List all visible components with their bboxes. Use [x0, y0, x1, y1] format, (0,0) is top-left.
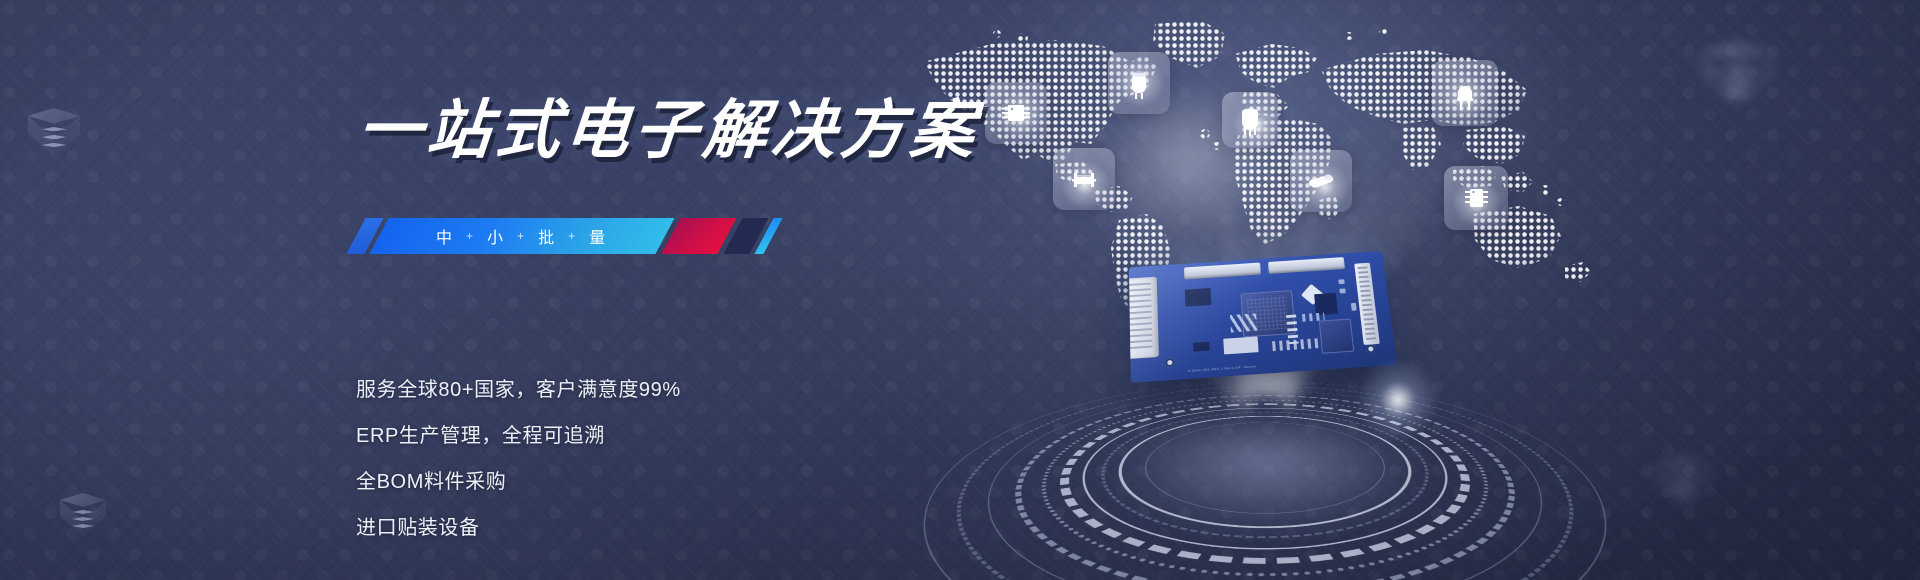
- hero-banner: A-D000_463_REV_2 Bus'a ER - Bottom 一站式电子…: [0, 0, 1920, 580]
- vignette-overlay: [0, 0, 1920, 580]
